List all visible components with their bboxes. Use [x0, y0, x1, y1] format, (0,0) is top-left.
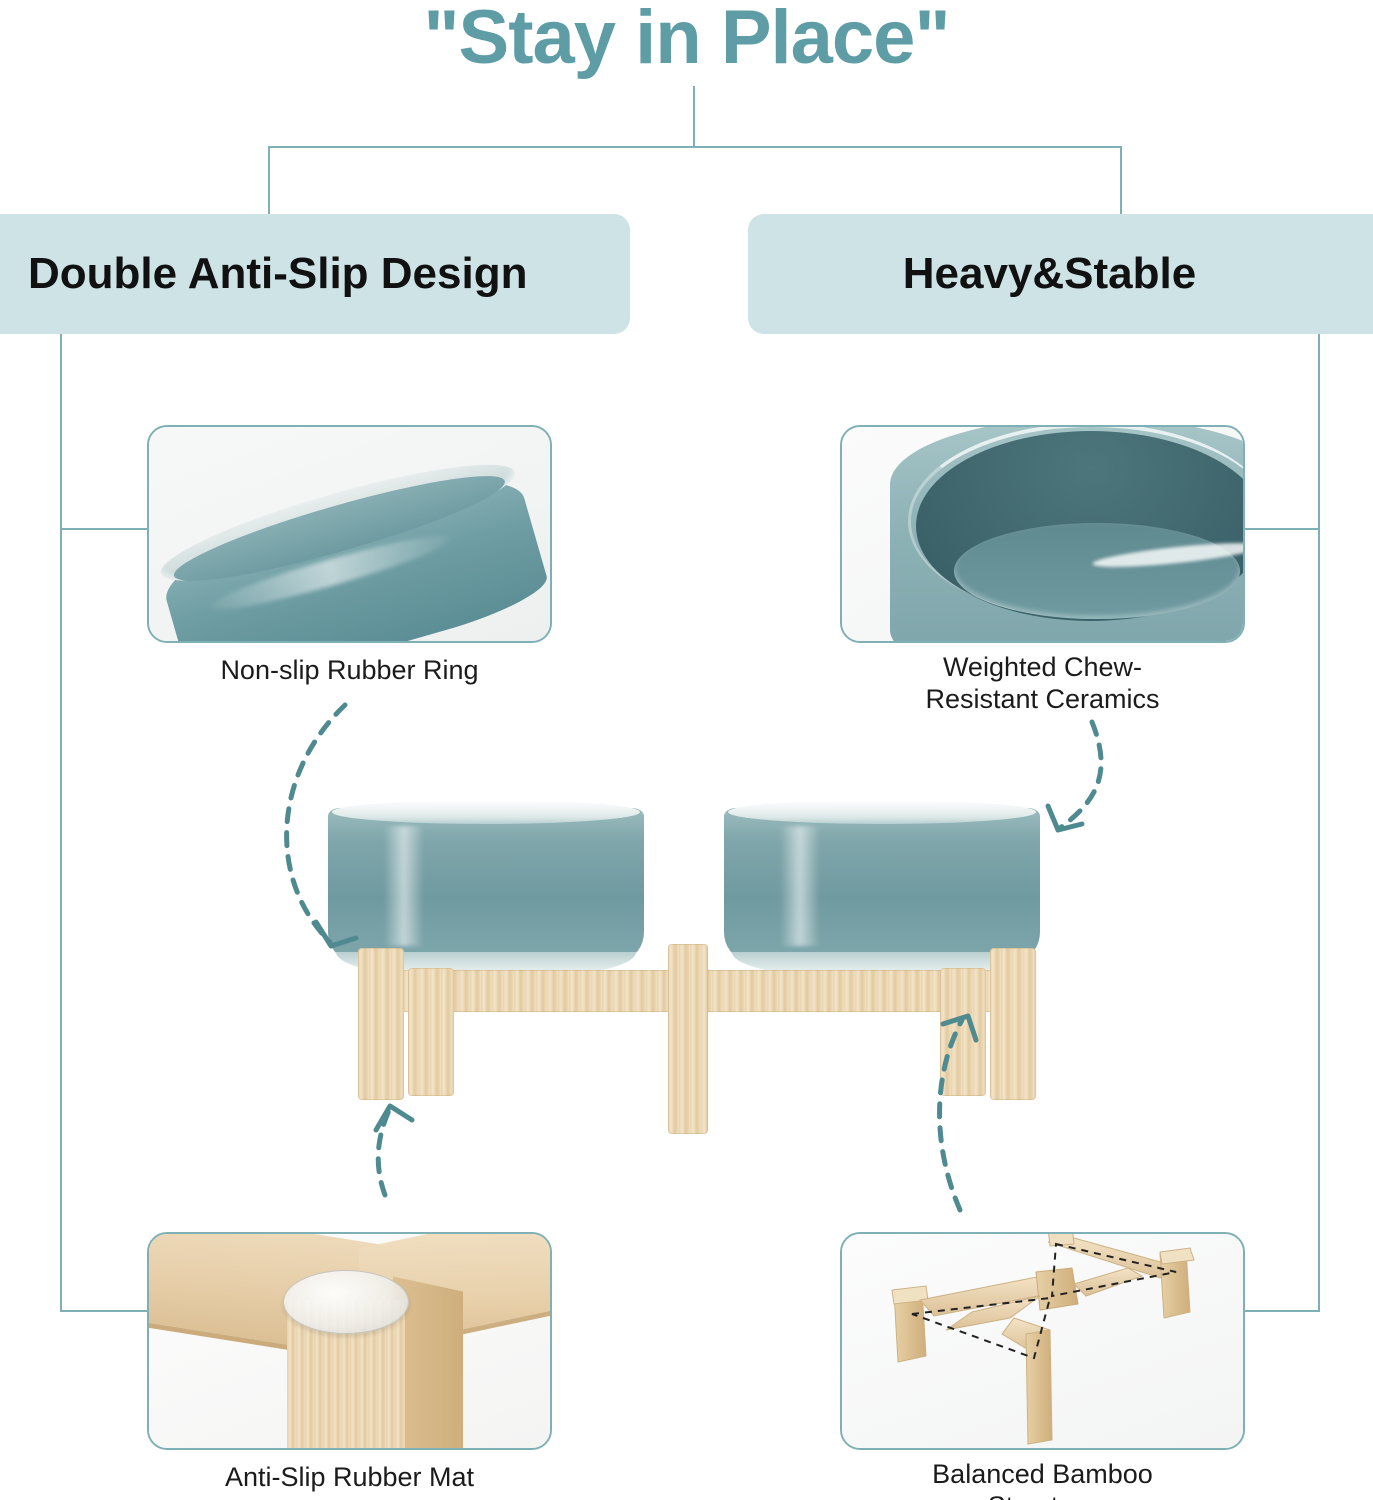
arrow-path-anti-slip-rubber-mat: [378, 1108, 390, 1195]
page-title: "Stay in Place": [0, 0, 1373, 81]
connector-right-branch-bottom: [1243, 1310, 1320, 1312]
connector-left-branch-bottom: [60, 1310, 150, 1312]
photo-frame-balanced-bamboo-structure[interactable]: [840, 1232, 1245, 1450]
connector-horizontal-bar: [268, 146, 1122, 148]
bamboo-stand-leg-3: [940, 968, 986, 1096]
bamboo-stand-leg-2: [408, 968, 454, 1096]
caption-line: Weighted Chew-: [840, 652, 1245, 684]
bamboo-leg-rubber-pad-photo: [149, 1234, 550, 1448]
caption-line: Resistant Ceramics: [840, 684, 1245, 716]
header-pill-left-label: Double Anti-Slip Design: [28, 249, 527, 299]
bamboo-stand-leg-4: [990, 948, 1036, 1100]
photo-frame-anti-slip-rubber-mat[interactable]: [147, 1232, 552, 1450]
caption-line: Balanced Bamboo: [840, 1459, 1245, 1491]
clear-rubber-pad: [283, 1270, 409, 1334]
bowl-underside-rubber-ring-photo: [149, 427, 550, 641]
bowl-interior-ceramic-photo: [842, 427, 1243, 641]
center-product-image: [300, 792, 1090, 1112]
connector-right-branch-top: [1243, 528, 1320, 530]
bamboo-stand-underside-photo: [842, 1234, 1243, 1448]
ceramic-bowl-right: [724, 808, 1040, 958]
connector-title-stem: [693, 86, 695, 148]
bamboo-stand-leg-1: [358, 948, 404, 1100]
header-pill-right-label: Heavy&Stable: [903, 249, 1196, 299]
caption-anti-slip-rubber-mat: Anti-Slip Rubber Mat: [147, 1462, 552, 1494]
ceramic-bowl-left: [328, 808, 644, 958]
photo-frame-non-slip-rubber-ring[interactable]: [147, 425, 552, 643]
ceramic-bowl-underside-illustration: [147, 425, 552, 643]
connector-left-branch-top: [60, 528, 150, 530]
connector-drop-left: [268, 146, 270, 218]
infographic-canvas: "Stay in Place" Double Anti-Slip Design …: [0, 0, 1373, 1500]
caption-line: Structure: [840, 1491, 1245, 1500]
header-pill-heavy-stable[interactable]: Heavy&Stable: [748, 214, 1373, 334]
caption-weighted-chew-resistant-ceramics: Weighted Chew- Resistant Ceramics: [840, 652, 1245, 716]
caption-balanced-bamboo-structure: Balanced Bamboo Structure: [840, 1459, 1245, 1500]
connector-drop-right: [1120, 146, 1122, 218]
connector-right-spine: [1318, 334, 1320, 1312]
photo-frame-weighted-ceramics[interactable]: [840, 425, 1245, 643]
connector-left-spine: [60, 334, 62, 1312]
header-pill-double-anti-slip[interactable]: Double Anti-Slip Design: [0, 214, 630, 334]
bamboo-stand-underside-diagram: [842, 1234, 1243, 1448]
caption-non-slip-rubber-ring: Non-slip Rubber Ring: [147, 655, 552, 687]
bamboo-stand-center-post: [668, 944, 708, 1134]
caption-line: Non-slip Rubber Ring: [147, 655, 552, 687]
caption-line: Anti-Slip Rubber Mat: [147, 1462, 552, 1494]
